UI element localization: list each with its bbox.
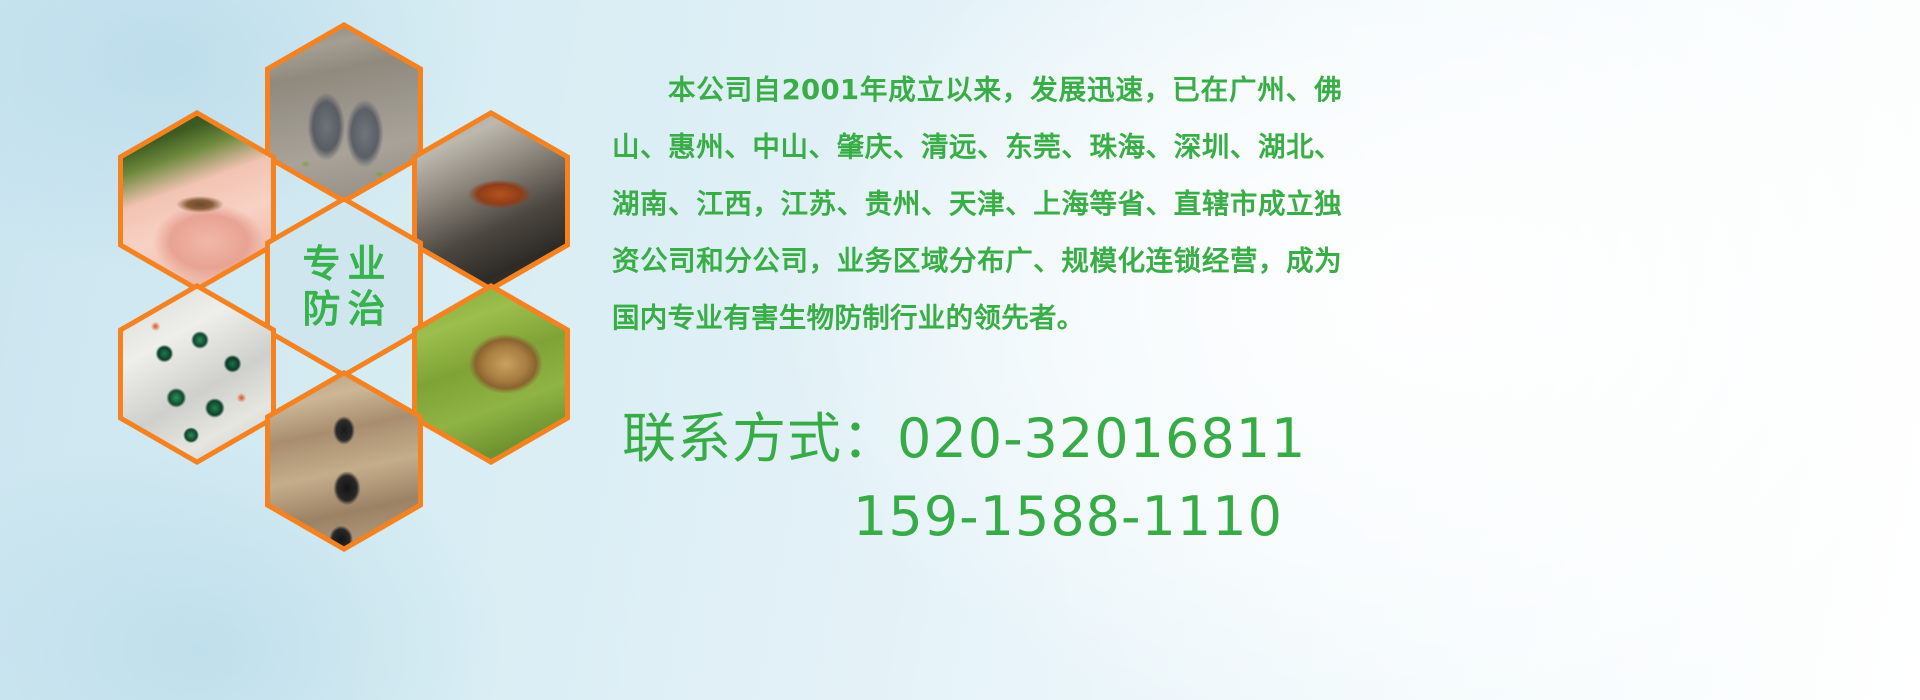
hex-cell-ant[interactable] — [265, 370, 423, 552]
hex-cell-stinkbug[interactable] — [412, 283, 570, 465]
hex-photo-frame-mosquito — [123, 116, 271, 286]
hex-photo-frame-stinkbug — [417, 289, 565, 459]
banner-text-content: 本公司自2001年成立以来，发展迅速，已在广州、佛山、惠州、中山、肇庆、清远、东… — [612, 0, 1912, 700]
hex-photo-frame-flies — [123, 289, 271, 459]
hex-cell-mosquito[interactable] — [118, 110, 276, 292]
ant-photo — [270, 376, 418, 546]
rodents-photo — [270, 28, 418, 198]
hex-cell-flies[interactable] — [118, 283, 276, 465]
stinkbug-photo — [417, 289, 565, 459]
hex-photo-frame-ant — [270, 376, 418, 546]
hex-cell-rodents[interactable] — [265, 22, 423, 204]
pest-control-banner: 专业 防治 本公司自2001年成立以来，发展迅速，已在广州、佛山、惠州、中山、肇… — [0, 0, 1920, 700]
hex-cell-slogan: 专业 防治 — [265, 196, 423, 378]
hex-photo-frame-cockroach — [417, 116, 565, 286]
contact-phone-landline[interactable]: 联系方式：020-32016811 — [622, 400, 1402, 478]
slogan-line-2: 防治 — [295, 290, 392, 329]
hex-cell-cockroach[interactable] — [412, 110, 570, 292]
contact-phone-mobile[interactable]: 159-1588-1110 — [622, 478, 1402, 556]
hex-photo-frame-rodents — [270, 28, 418, 198]
flies-photo — [123, 289, 271, 459]
company-intro-paragraph: 本公司自2001年成立以来，发展迅速，已在广州、佛山、惠州、中山、肇庆、清远、东… — [612, 62, 1342, 347]
slogan-panel: 专业 防治 — [270, 202, 418, 372]
contact-block: 联系方式：020-32016811 159-1588-1110 — [622, 400, 1402, 556]
slogan-line-1: 专业 — [295, 245, 392, 284]
cockroach-photo — [417, 116, 565, 286]
mosquito-photo — [123, 116, 271, 286]
honeycomb-collage: 专业 防治 — [90, 0, 610, 580]
